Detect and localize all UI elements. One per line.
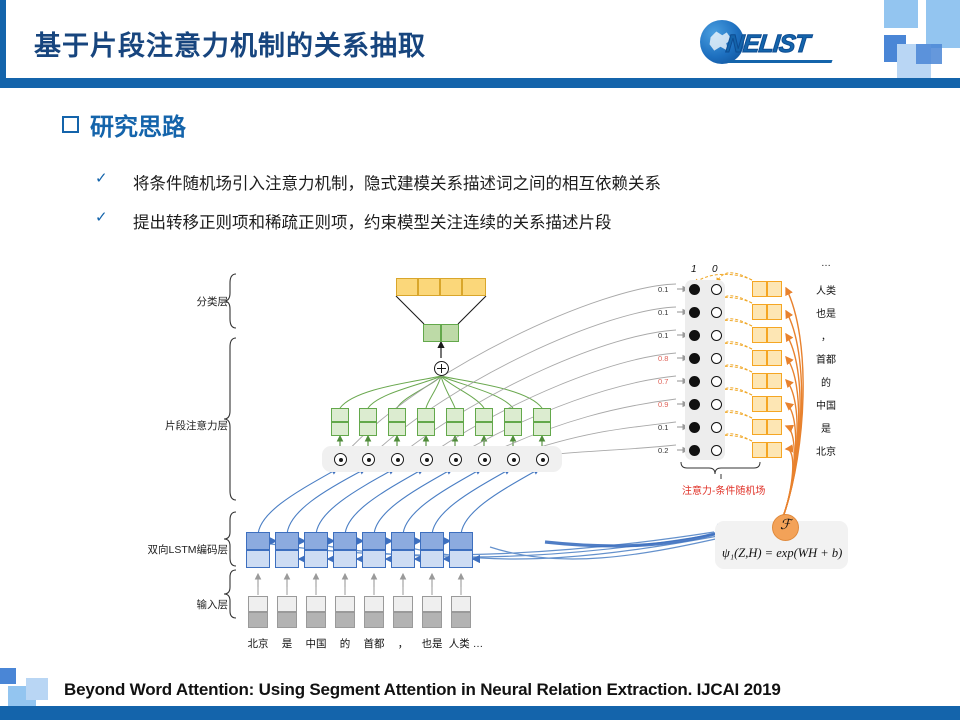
crf-column-head-0: 0 <box>712 264 718 275</box>
input-embedding-cell <box>364 612 384 628</box>
context-word-label: 人类 <box>806 282 846 297</box>
crf-weight-value: 0.1 <box>658 308 668 317</box>
input-embedding-cell <box>393 596 413 612</box>
lstm-backward-cell <box>391 550 415 568</box>
crf-node-on <box>689 284 700 295</box>
lstm-forward-cell <box>246 532 270 550</box>
segment-cell <box>504 408 522 422</box>
footer-decoration-square-1 <box>0 668 16 684</box>
input-embedding-cell <box>451 596 471 612</box>
lstm-forward-cell <box>333 532 357 550</box>
lstm-backward-cell <box>275 550 299 568</box>
section-heading: 研究思路 <box>90 107 186 142</box>
attention-gate-icon <box>507 453 520 466</box>
nelist-logo: NELIST <box>700 16 835 70</box>
logo-wordmark: NELIST <box>724 30 810 59</box>
input-embedding-cell <box>364 596 384 612</box>
lstm-backward-cell <box>362 550 386 568</box>
lstm-forward-cell <box>391 532 415 550</box>
oplus-icon <box>434 361 449 376</box>
potential-function-badge: ℱ <box>772 514 799 541</box>
pooled-cell <box>423 324 441 342</box>
layer-label-segment-attention: 片段注意力层 <box>118 418 228 433</box>
crf-weight-value: 0.1 <box>658 285 668 294</box>
segment-cell <box>388 422 406 436</box>
logo-underline <box>727 60 832 63</box>
section-bullet-square-icon <box>62 116 79 133</box>
lstm-backward-cell <box>246 550 270 568</box>
input-embedding-cell <box>422 612 442 628</box>
pooled-cell <box>441 324 459 342</box>
crf-node-off <box>711 399 722 410</box>
context-word-label: 也是 <box>806 305 846 320</box>
context-word-label: 的 <box>806 374 846 389</box>
lstm-backward-cell <box>449 550 473 568</box>
input-embedding-cell <box>393 612 413 628</box>
segment-cell <box>331 408 349 422</box>
check-icon-1: ✓ <box>95 169 108 187</box>
segment-cell <box>417 408 435 422</box>
attention-gate-icon <box>391 453 404 466</box>
crf-node-on <box>689 445 700 456</box>
context-word-label: 中国 <box>806 397 846 412</box>
segment-cell <box>504 422 522 436</box>
potential-function-formula: ψ₁(Z,H) = exp(WH + b) <box>722 546 842 561</box>
crf-weight-value: 0.7 <box>658 377 668 386</box>
context-word-label: 是 <box>806 420 846 435</box>
lstm-backward-cell <box>420 550 444 568</box>
potential-function-badge-label: ℱ <box>773 517 798 534</box>
crf-state-cell <box>752 373 767 389</box>
footer-decoration-square-3 <box>26 678 48 700</box>
segment-cell <box>533 408 551 422</box>
crf-state-cell <box>767 396 782 412</box>
input-embedding-cell <box>277 596 297 612</box>
crf-state-cell <box>752 419 767 435</box>
crf-state-cell <box>752 442 767 458</box>
input-embedding-cell <box>422 596 442 612</box>
input-embedding-cell <box>306 612 326 628</box>
crf-node-off <box>711 445 722 456</box>
segment-cell <box>446 422 464 436</box>
crf-state-cell <box>752 350 767 366</box>
crf-state-cell <box>752 396 767 412</box>
segment-cell <box>475 422 493 436</box>
bullet-item-1: 将条件随机场引入注意力机制，隐式建模关系描述词之间的相互依赖关系 <box>133 170 661 194</box>
segment-cell <box>475 408 493 422</box>
crf-node-off <box>711 307 722 318</box>
crf-state-cell <box>767 350 782 366</box>
decoration-square-1 <box>884 0 918 28</box>
segment-cell <box>359 408 377 422</box>
lstm-backward-cell <box>304 550 328 568</box>
crf-state-cell <box>767 442 782 458</box>
crf-node-off <box>711 376 722 387</box>
attention-gate-icon <box>478 453 491 466</box>
crf-state-cell <box>767 281 782 297</box>
crf-state-cell <box>752 327 767 343</box>
crf-weight-value: 0.1 <box>658 423 668 432</box>
input-embedding-cell <box>335 596 355 612</box>
segment-cell <box>331 422 349 436</box>
layer-label-bilstm: 双向LSTM编码层 <box>108 542 228 557</box>
crf-state-cell <box>767 419 782 435</box>
context-word-label: … <box>806 258 846 269</box>
lstm-backward-cell <box>333 550 357 568</box>
crf-weight-value: 0.1 <box>658 331 668 340</box>
segment-cell <box>533 422 551 436</box>
attention-gate-icon <box>536 453 549 466</box>
model-architecture-diagram: 分类层 片段注意力层 双向LSTM编码层 输入层 <box>0 250 960 660</box>
crf-node-on <box>689 307 700 318</box>
title-divider-bar <box>0 78 960 88</box>
bullet-item-2: 提出转移正则项和稀疏正则项，约束模型关注连续的关系描述片段 <box>133 209 612 233</box>
crf-node-off <box>711 353 722 364</box>
input-embedding-cell <box>335 612 355 628</box>
crf-node-off <box>711 330 722 341</box>
crf-state-cell <box>767 304 782 320</box>
input-embedding-cell <box>248 596 268 612</box>
crf-state-cell <box>767 373 782 389</box>
layer-label-input: 输入层 <box>138 597 228 612</box>
crf-node-on <box>689 422 700 433</box>
crf-node-on <box>689 353 700 364</box>
segment-cell <box>417 422 435 436</box>
crf-weight-value: 0.2 <box>658 446 668 455</box>
crf-state-cell <box>767 327 782 343</box>
attention-gate-icon <box>449 453 462 466</box>
lstm-forward-cell <box>420 532 444 550</box>
context-word-label: 首都 <box>806 351 846 366</box>
decoration-square-2 <box>926 0 960 48</box>
lstm-forward-cell <box>304 532 328 550</box>
input-embedding-cell <box>248 612 268 628</box>
crf-node-off <box>711 284 722 295</box>
crf-node-off <box>711 422 722 433</box>
crf-node-on <box>689 330 700 341</box>
left-edge-accent-bar <box>0 0 6 78</box>
lstm-forward-cell <box>362 532 386 550</box>
crf-node-on <box>689 399 700 410</box>
attention-gate-icon <box>362 453 375 466</box>
input-embedding-cell <box>277 612 297 628</box>
lstm-forward-cell <box>275 532 299 550</box>
context-word-label: 北京 <box>806 443 846 458</box>
attention-gate-icon <box>334 453 347 466</box>
classifier-cell <box>418 278 440 296</box>
attention-gate-icon <box>420 453 433 466</box>
attention-gate-strip <box>322 446 562 472</box>
crf-weight-value: 0.8 <box>658 354 668 363</box>
classifier-cell <box>462 278 486 296</box>
segment-cell <box>359 422 377 436</box>
classifier-cell <box>396 278 418 296</box>
check-icon-2: ✓ <box>95 208 108 226</box>
segment-cell <box>446 408 464 422</box>
crf-weight-value: 0.9 <box>658 400 668 409</box>
crf-state-cell <box>752 304 767 320</box>
crf-node-on <box>689 376 700 387</box>
input-embedding-cell <box>306 596 326 612</box>
layer-label-classification: 分类层 <box>138 294 228 309</box>
footer-citation: Beyond Word Attention: Using Segment Att… <box>64 680 781 700</box>
input-word-label: 人类 … <box>436 636 496 651</box>
crf-column-head-1: 1 <box>691 264 697 275</box>
page-title: 基于片段注意力机制的关系抽取 <box>34 24 426 63</box>
context-word-label: ， <box>806 328 846 343</box>
decoration-square-5 <box>916 44 942 64</box>
input-embedding-cell <box>451 612 471 628</box>
footer-accent-bar <box>0 706 960 720</box>
classifier-cell <box>440 278 462 296</box>
crf-state-cell <box>752 281 767 297</box>
lstm-forward-cell <box>449 532 473 550</box>
crf-caption-label: 注意力-条件随机场 <box>682 482 765 497</box>
segment-cell <box>388 408 406 422</box>
